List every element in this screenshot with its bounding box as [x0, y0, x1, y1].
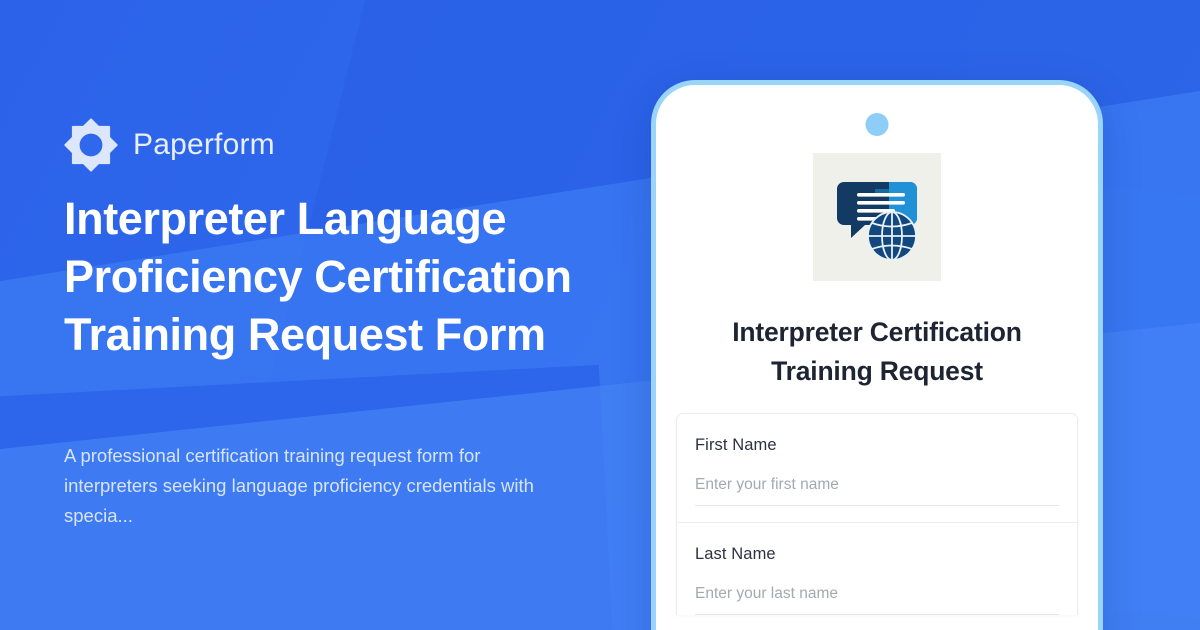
- paperform-star-logo-icon: [64, 118, 118, 172]
- form-cover-image: [813, 153, 941, 281]
- form-fields-card: First Name Enter your first name Last Na…: [676, 413, 1078, 615]
- phone-mockup: Interpreter Certification Training Reque…: [651, 80, 1103, 630]
- field-label: Last Name: [695, 545, 1059, 564]
- share-card-canvas: Paperform Interpreter Language Proficien…: [0, 0, 1200, 630]
- field-label: First Name: [695, 436, 1059, 455]
- page-description: A professional certification training re…: [64, 441, 564, 531]
- brand-lockup: Paperform: [64, 118, 275, 172]
- first-name-input[interactable]: Enter your first name: [695, 476, 1059, 506]
- hero-text-column: Paperform Interpreter Language Proficien…: [64, 0, 624, 630]
- page-title: Interpreter Language Proficiency Certifi…: [64, 190, 609, 364]
- last-name-input[interactable]: Enter your last name: [695, 585, 1059, 615]
- form-title: Interpreter Certification Training Reque…: [684, 313, 1070, 391]
- form-field-last-name: Last Name Enter your last name: [677, 522, 1077, 615]
- camera-dot-icon: [866, 113, 889, 136]
- brand-name: Paperform: [133, 130, 275, 160]
- form-field-first-name: First Name Enter your first name: [677, 414, 1077, 506]
